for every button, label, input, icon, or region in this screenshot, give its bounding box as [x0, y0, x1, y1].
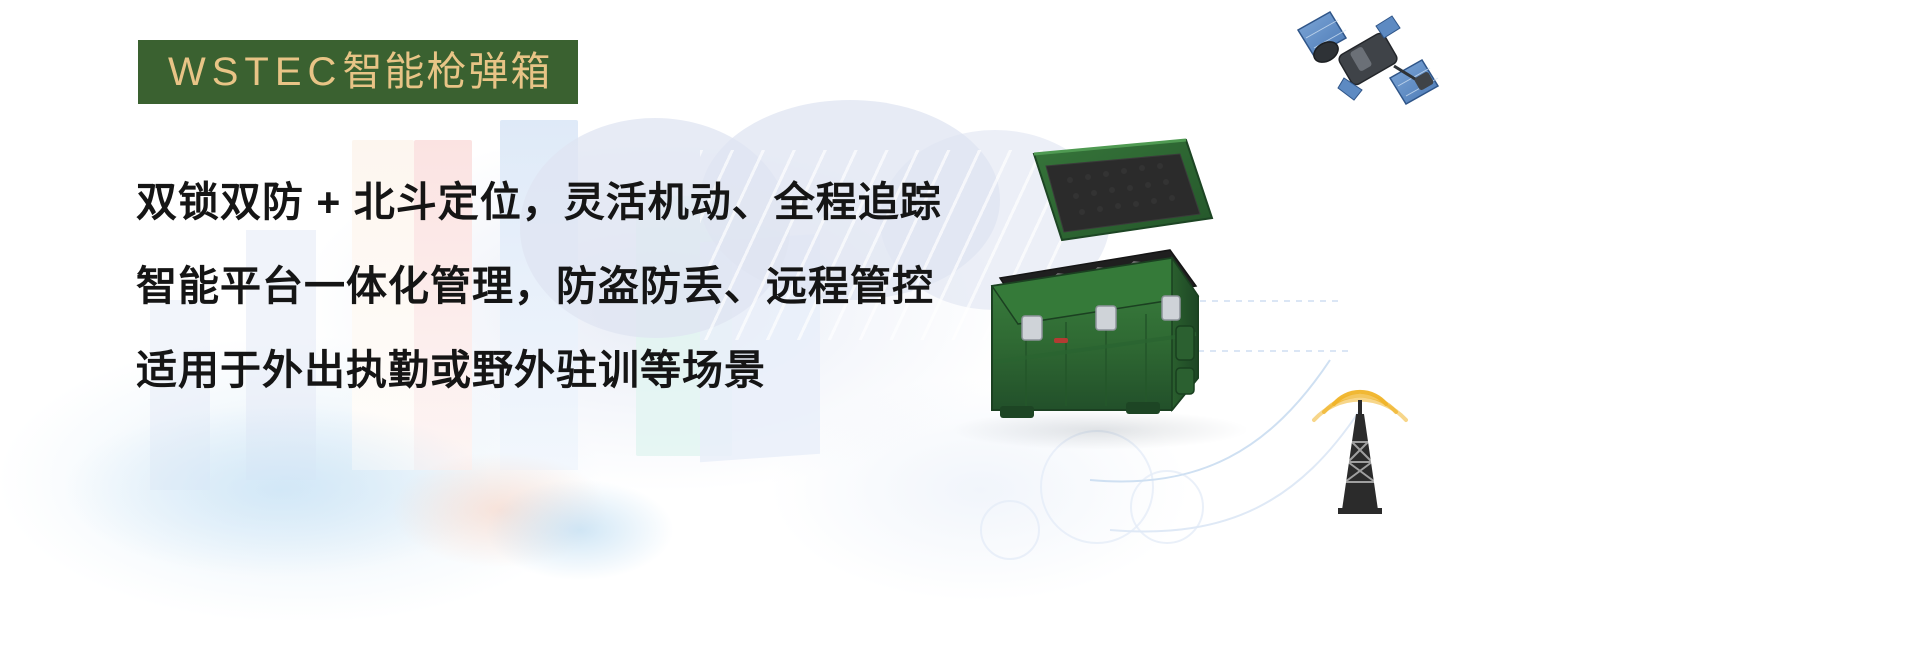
bg-ring-3	[980, 500, 1040, 560]
bg-swoosh-blue	[470, 470, 730, 620]
smart-ammunition-case	[930, 110, 1270, 480]
feature-line-2: 智能平台一体化管理，防盗防丢、远程管控	[136, 266, 956, 307]
title-product: 智能枪弹箱	[342, 50, 552, 94]
case-illustration	[930, 110, 1270, 480]
title-brand: WSTEC	[168, 50, 342, 94]
feature-copy: 双锁双防 + 北斗定位，灵活机动、全程追踪 智能平台一体化管理，防盗防丢、远程管…	[136, 182, 956, 391]
case-lid	[1034, 140, 1212, 240]
feature-line-1: 双锁双防 + 北斗定位，灵活机动、全程追踪	[136, 182, 956, 223]
page-title: WSTEC智能枪弹箱	[168, 52, 552, 92]
feature-line-3: 适用于外出执勤或野外驻训等场景	[136, 350, 956, 391]
title-banner: WSTEC智能枪弹箱	[138, 40, 578, 104]
satellite-icon	[1288, 8, 1448, 133]
promo-banner: WSTEC智能枪弹箱 双锁双防 + 北斗定位，灵活机动、全程追踪 智能平台一体化…	[0, 0, 1920, 648]
signal-tower-icon	[1300, 360, 1420, 520]
case-body	[992, 258, 1198, 418]
